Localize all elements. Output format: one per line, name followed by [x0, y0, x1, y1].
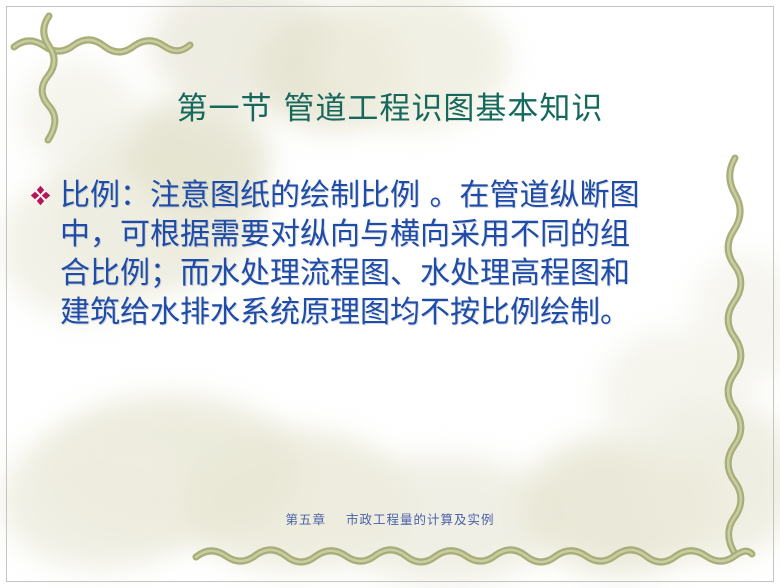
body-line: 比例：注意图纸的绘制比例 。在管道纵断图 — [60, 176, 756, 215]
slide-footer: 第五章 市政工程量的计算及实例 — [0, 509, 780, 528]
watermark-blob — [0, 430, 200, 570]
body-line: 建筑给水排水系统原理图均不按比例绘制。 — [60, 293, 756, 332]
slide-title: 第一节 管道工程识图基本知识 — [0, 88, 780, 130]
watermark-blob — [180, 430, 410, 570]
bullet-cell — [30, 176, 60, 206]
vine-horizontal-top-icon — [12, 30, 192, 62]
body-line: 合比例；而水处理流程图、水处理高程图和 — [60, 254, 756, 293]
watermark-blob — [520, 435, 720, 575]
slide-title-text: 第一节 管道工程识图基本知识 — [177, 88, 604, 130]
watermark-blob — [600, 330, 740, 460]
watermark-blob — [640, 400, 780, 560]
four-diamond-bullet-icon — [30, 185, 51, 206]
body-bullet-item: 比例：注意图纸的绘制比例 。在管道纵断图 中，可根据需要对纵向与横向采用不同的组… — [30, 176, 756, 332]
presentation-slide: 第一节 管道工程识图基本知识 比例：注意图纸的绘制比例 。在管道纵断图 中，可根… — [0, 0, 780, 588]
slide-footer-text: 第五章 市政工程量的计算及实例 — [286, 512, 495, 527]
body-line: 中，可根据需要对纵向与横向采用不同的组 — [60, 215, 756, 254]
vine-horizontal-bottom-icon — [194, 540, 754, 572]
body-text: 比例：注意图纸的绘制比例 。在管道纵断图 中，可根据需要对纵向与横向采用不同的组… — [60, 176, 756, 332]
